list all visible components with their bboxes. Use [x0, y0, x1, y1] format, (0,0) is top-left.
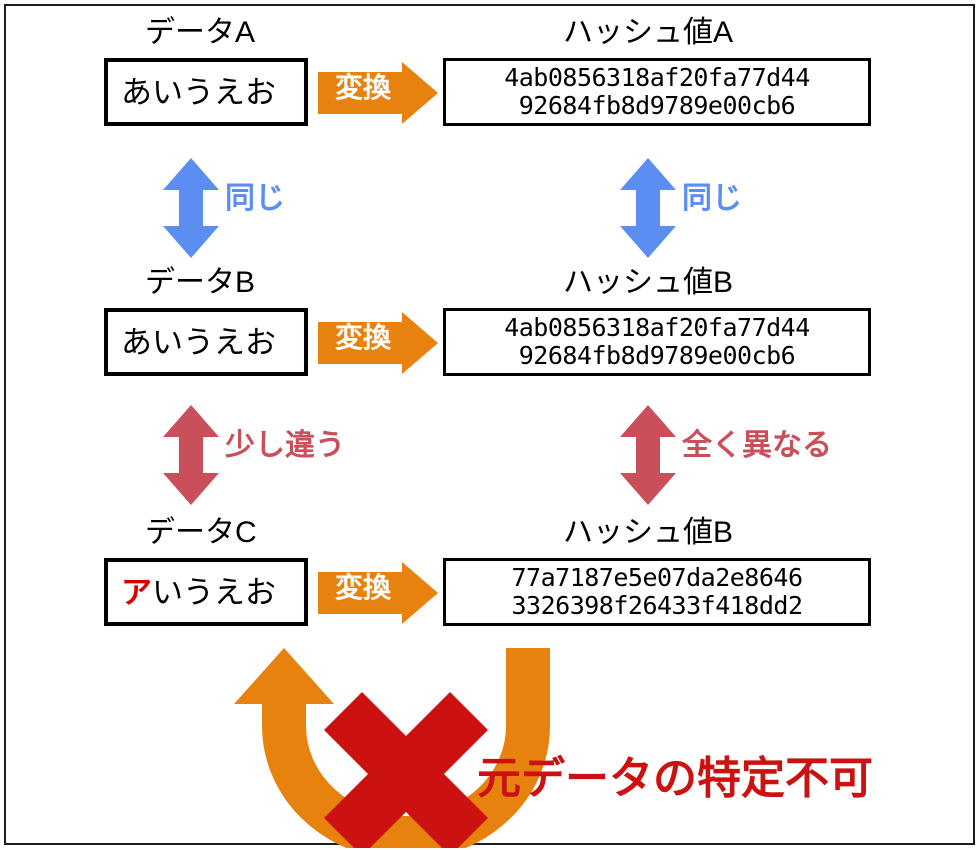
data-text-a: あいうえお	[121, 77, 276, 108]
hash-box-a: 4ab0856318af20fa77d44 92684fb8d9789e00cb…	[443, 58, 871, 126]
conversion-label-b: 変換	[324, 324, 402, 352]
comparison-left-1-label: 同じ	[225, 184, 285, 214]
comparison-left-2-label: 少し違う	[225, 431, 345, 461]
reverse-lookup-group	[228, 648, 588, 848]
hash-caption-c: ハッシュ値B	[563, 518, 733, 548]
conversion-arrow-a: 変換	[318, 62, 438, 124]
data-text-c-rest: いうえお	[152, 575, 276, 610]
bottom-caption: 元データの特定不可	[477, 757, 873, 801]
data-caption-b: データB	[145, 268, 255, 298]
hash-caption-b: ハッシュ値B	[563, 268, 733, 298]
data-text-c-highlight: ア	[121, 575, 152, 610]
conversion-arrow-c: 変換	[318, 562, 438, 624]
comparison-right-1-label: 同じ	[682, 184, 742, 214]
data-caption-a: データA	[145, 18, 255, 48]
data-text-b: あいうえお	[121, 327, 276, 358]
comparison-right-1: 同じ	[620, 158, 676, 258]
data-text-c: アいうえお	[121, 577, 276, 608]
comparison-left-2: 少し違う	[163, 405, 219, 505]
hash-line-c-2: 3326398f26433f418dd2	[511, 592, 802, 620]
hash-line-a-1: 4ab0856318af20fa77d44	[504, 64, 810, 92]
hash-box-c: 77a7187e5e07da2e8646 3326398f26433f418dd…	[443, 558, 871, 626]
hash-line-c-1: 77a7187e5e07da2e8646	[511, 564, 802, 592]
diagram-canvas: データA あいうえお 変換 ハッシュ値A 4ab0856318af20fa77d…	[0, 0, 980, 850]
data-text-a-rest: あいうえお	[121, 75, 276, 110]
hash-line-b-2: 92684fb8d9789e00cb6	[519, 342, 795, 370]
data-caption-c: データC	[145, 518, 257, 548]
hash-line-a-2: 92684fb8d9789e00cb6	[519, 92, 795, 120]
hash-box-b: 4ab0856318af20fa77d44 92684fb8d9789e00cb…	[443, 308, 871, 376]
conversion-arrow-b: 変換	[318, 312, 438, 374]
data-box-a: あいうえお	[104, 58, 308, 126]
conversion-label-c: 変換	[324, 574, 402, 602]
data-box-b: あいうえお	[104, 308, 308, 376]
comparison-left-1: 同じ	[163, 158, 219, 258]
hash-line-b-1: 4ab0856318af20fa77d44	[504, 314, 810, 342]
conversion-label-a: 変換	[324, 74, 402, 102]
hash-caption-a: ハッシュ値A	[563, 18, 733, 48]
comparison-right-2: 全く異なる	[620, 405, 676, 505]
data-box-c: アいうえお	[104, 558, 308, 626]
comparison-right-2-label: 全く異なる	[682, 431, 832, 461]
data-text-b-rest: あいうえお	[121, 325, 276, 360]
